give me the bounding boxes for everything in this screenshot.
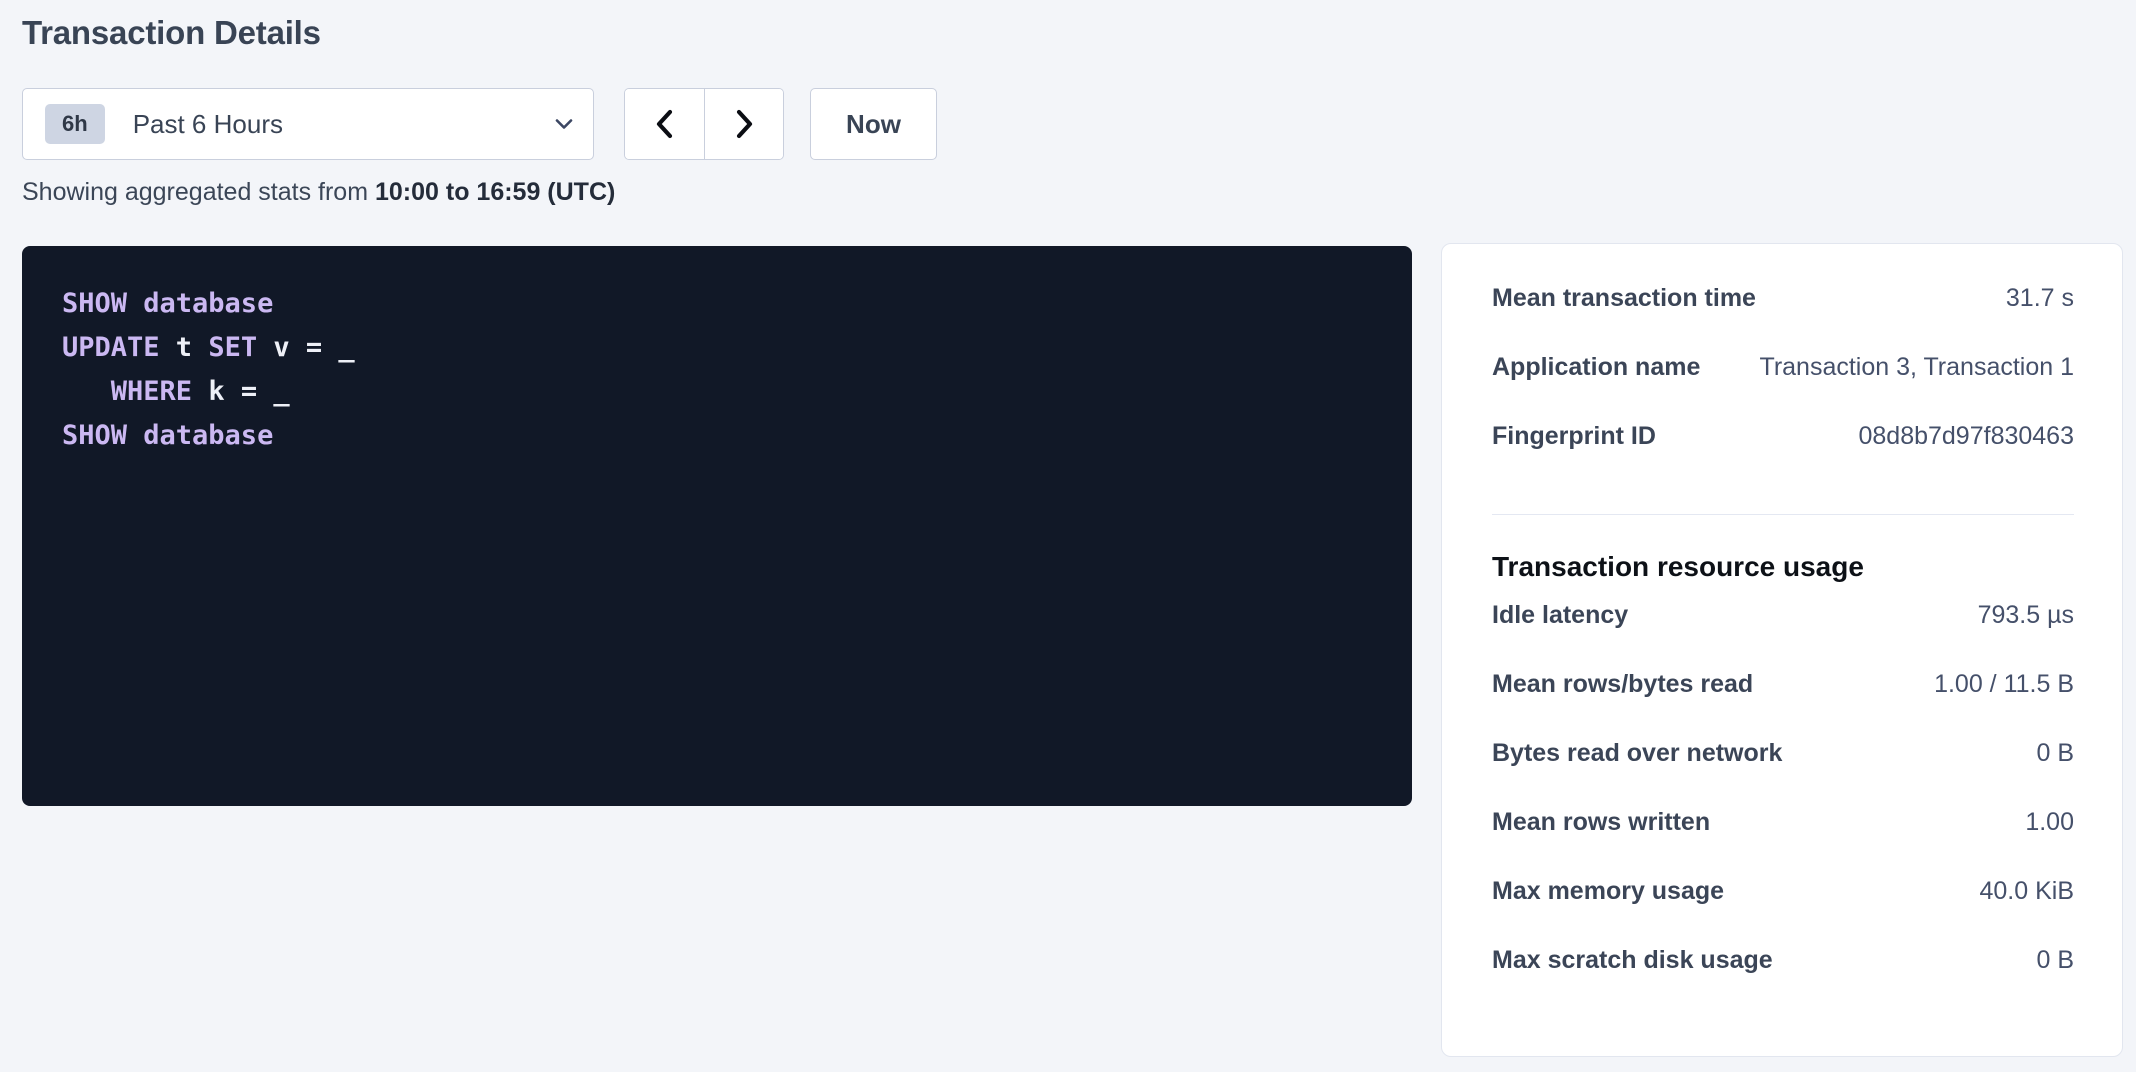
sql-keyword: WHERE (111, 376, 192, 407)
transaction-details-page: Transaction Details 6h Past 6 Hours (0, 0, 2136, 1072)
sql-statement-text: SHOW databaseUPDATE t SET v = _ WHERE k … (62, 282, 1372, 458)
stat-label: Mean rows/bytes read (1492, 670, 1753, 699)
section-divider (1492, 514, 2074, 515)
stat-value: 1.00 (2025, 808, 2074, 837)
stat-value: 31.7 s (2006, 284, 2074, 313)
sql-identifier (62, 376, 111, 407)
sql-line: WHERE k = _ (62, 370, 1372, 414)
stat-row: Mean rows written1.00 (1492, 808, 2074, 877)
sql-keyword: SHOW database (62, 420, 273, 451)
chevron-down-icon (553, 113, 575, 135)
stat-row: Application nameTransaction 3, Transacti… (1492, 353, 2074, 422)
sql-line: SHOW database (62, 282, 1372, 326)
stat-label: Mean rows written (1492, 808, 1710, 837)
time-range-select[interactable]: 6h Past 6 Hours (22, 88, 594, 160)
stat-label: Max memory usage (1492, 877, 1724, 906)
sql-keyword: SET (208, 332, 257, 363)
stat-value: 793.5 µs (1978, 601, 2074, 630)
stat-label: Idle latency (1492, 601, 1628, 630)
stat-value: 40.0 KiB (1979, 877, 2074, 906)
stat-value: Transaction 3, Transaction 1 (1759, 353, 2074, 382)
stat-row: Max memory usage40.0 KiB (1492, 877, 2074, 946)
next-period-button[interactable] (704, 89, 783, 159)
time-nav-group (624, 88, 784, 160)
stat-label: Max scratch disk usage (1492, 946, 1773, 975)
aggregation-range-text: Showing aggregated stats from 10:00 to 1… (22, 178, 615, 207)
sql-identifier: t (160, 332, 209, 363)
sql-keyword: SHOW database (62, 288, 273, 319)
previous-period-button[interactable] (625, 89, 704, 159)
stat-row: Max scratch disk usage0 B (1492, 946, 2074, 1015)
time-range-label: Past 6 Hours (133, 109, 553, 140)
page-title: Transaction Details (22, 14, 321, 52)
chevron-left-icon (650, 107, 680, 141)
stat-value: 0 B (2036, 946, 2074, 975)
transaction-stats-card: Mean transaction time31.7 sApplication n… (1441, 243, 2123, 1057)
transaction-statement-code-block[interactable]: SHOW databaseUPDATE t SET v = _ WHERE k … (22, 246, 1412, 806)
stat-row: Fingerprint ID08d8b7d97f830463 (1492, 422, 2074, 491)
stat-row: Mean transaction time31.7 s (1492, 284, 2074, 353)
stat-label: Application name (1492, 353, 1700, 382)
resource-usage-list: Idle latency793.5 µsMean rows/bytes read… (1492, 601, 2074, 1015)
stat-label: Mean transaction time (1492, 284, 1756, 313)
sql-line: SHOW database (62, 414, 1372, 458)
stat-label: Fingerprint ID (1492, 422, 1656, 451)
transaction-details-list: Mean transaction time31.7 sApplication n… (1492, 284, 2074, 491)
stat-row: Bytes read over network0 B (1492, 739, 2074, 808)
resource-usage-title: Transaction resource usage (1492, 551, 2074, 583)
stat-value: 0 B (2036, 739, 2074, 768)
aggregation-range-prefix: Showing aggregated stats from (22, 178, 375, 206)
sql-line: UPDATE t SET v = _ (62, 326, 1372, 370)
stat-value: 1.00 / 11.5 B (1934, 670, 2074, 699)
time-range-toolbar: 6h Past 6 Hours (22, 88, 937, 160)
aggregation-range-value: 10:00 to 16:59 (UTC) (375, 178, 615, 206)
sql-identifier: k = _ (192, 376, 290, 407)
time-range-badge: 6h (45, 104, 105, 144)
stat-value: 08d8b7d97f830463 (1858, 422, 2074, 451)
chevron-right-icon (729, 107, 759, 141)
now-button[interactable]: Now (810, 88, 937, 160)
stat-label: Bytes read over network (1492, 739, 1782, 768)
sql-keyword: UPDATE (62, 332, 160, 363)
sql-identifier: v = _ (257, 332, 355, 363)
stat-row: Mean rows/bytes read1.00 / 11.5 B (1492, 670, 2074, 739)
stat-row: Idle latency793.5 µs (1492, 601, 2074, 670)
